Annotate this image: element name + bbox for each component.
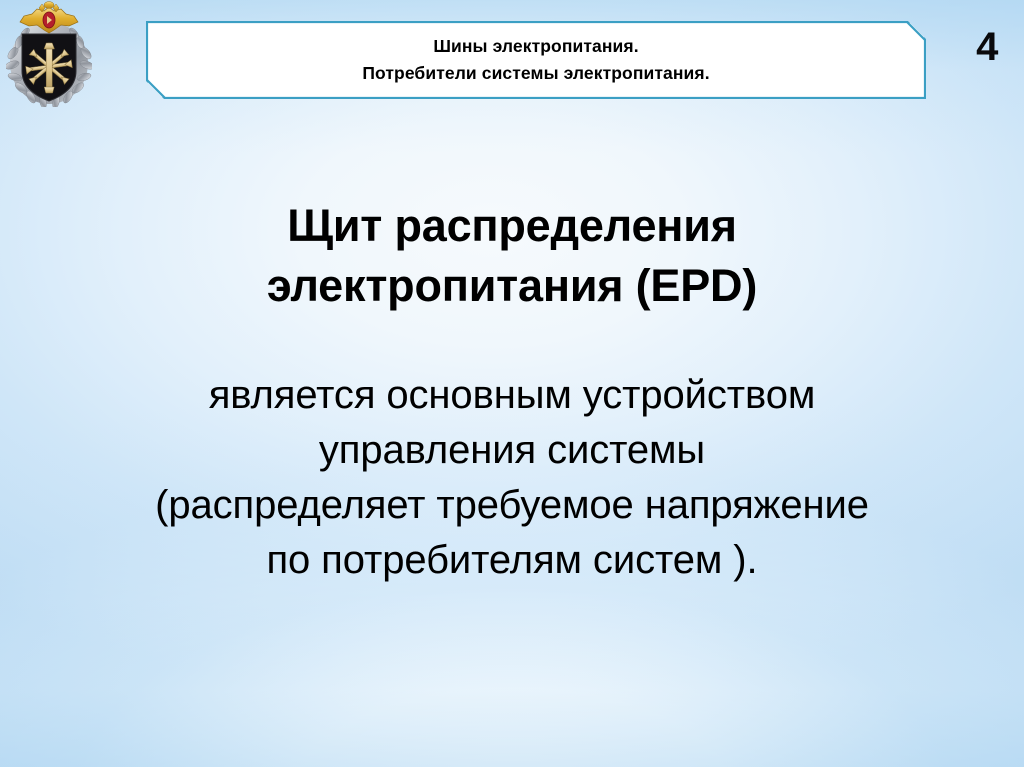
slide-headline: Щит распределения электропитания (EPD) (62, 196, 962, 316)
body-line-2: управления системы (32, 423, 992, 478)
body-line-1: является основным устройством (32, 368, 992, 423)
slide-title-line-2: Потребители системы электропитания. (148, 60, 924, 87)
slide-title-text: Шины электропитания. Потребители системы… (148, 33, 924, 86)
headline-line-2: электропитания (EPD) (62, 256, 962, 316)
slide-page-number: 4 (963, 27, 1011, 67)
slide-title-banner: Шины электропитания. Потребители системы… (146, 21, 926, 99)
body-line-4: по потребителям систем ). (32, 533, 992, 588)
slide-content: Щит распределения электропитания (EPD) я… (0, 196, 1024, 588)
military-emblem (6, 1, 92, 107)
slide-title-line-1: Шины электропитания. (148, 33, 924, 60)
slide-root: Шины электропитания. Потребители системы… (0, 0, 1024, 767)
slide-body-text: является основным устройством управления… (32, 368, 992, 589)
headline-line-1: Щит распределения (62, 196, 962, 256)
body-line-3: (распределяет требуемое напряжение (32, 478, 992, 533)
